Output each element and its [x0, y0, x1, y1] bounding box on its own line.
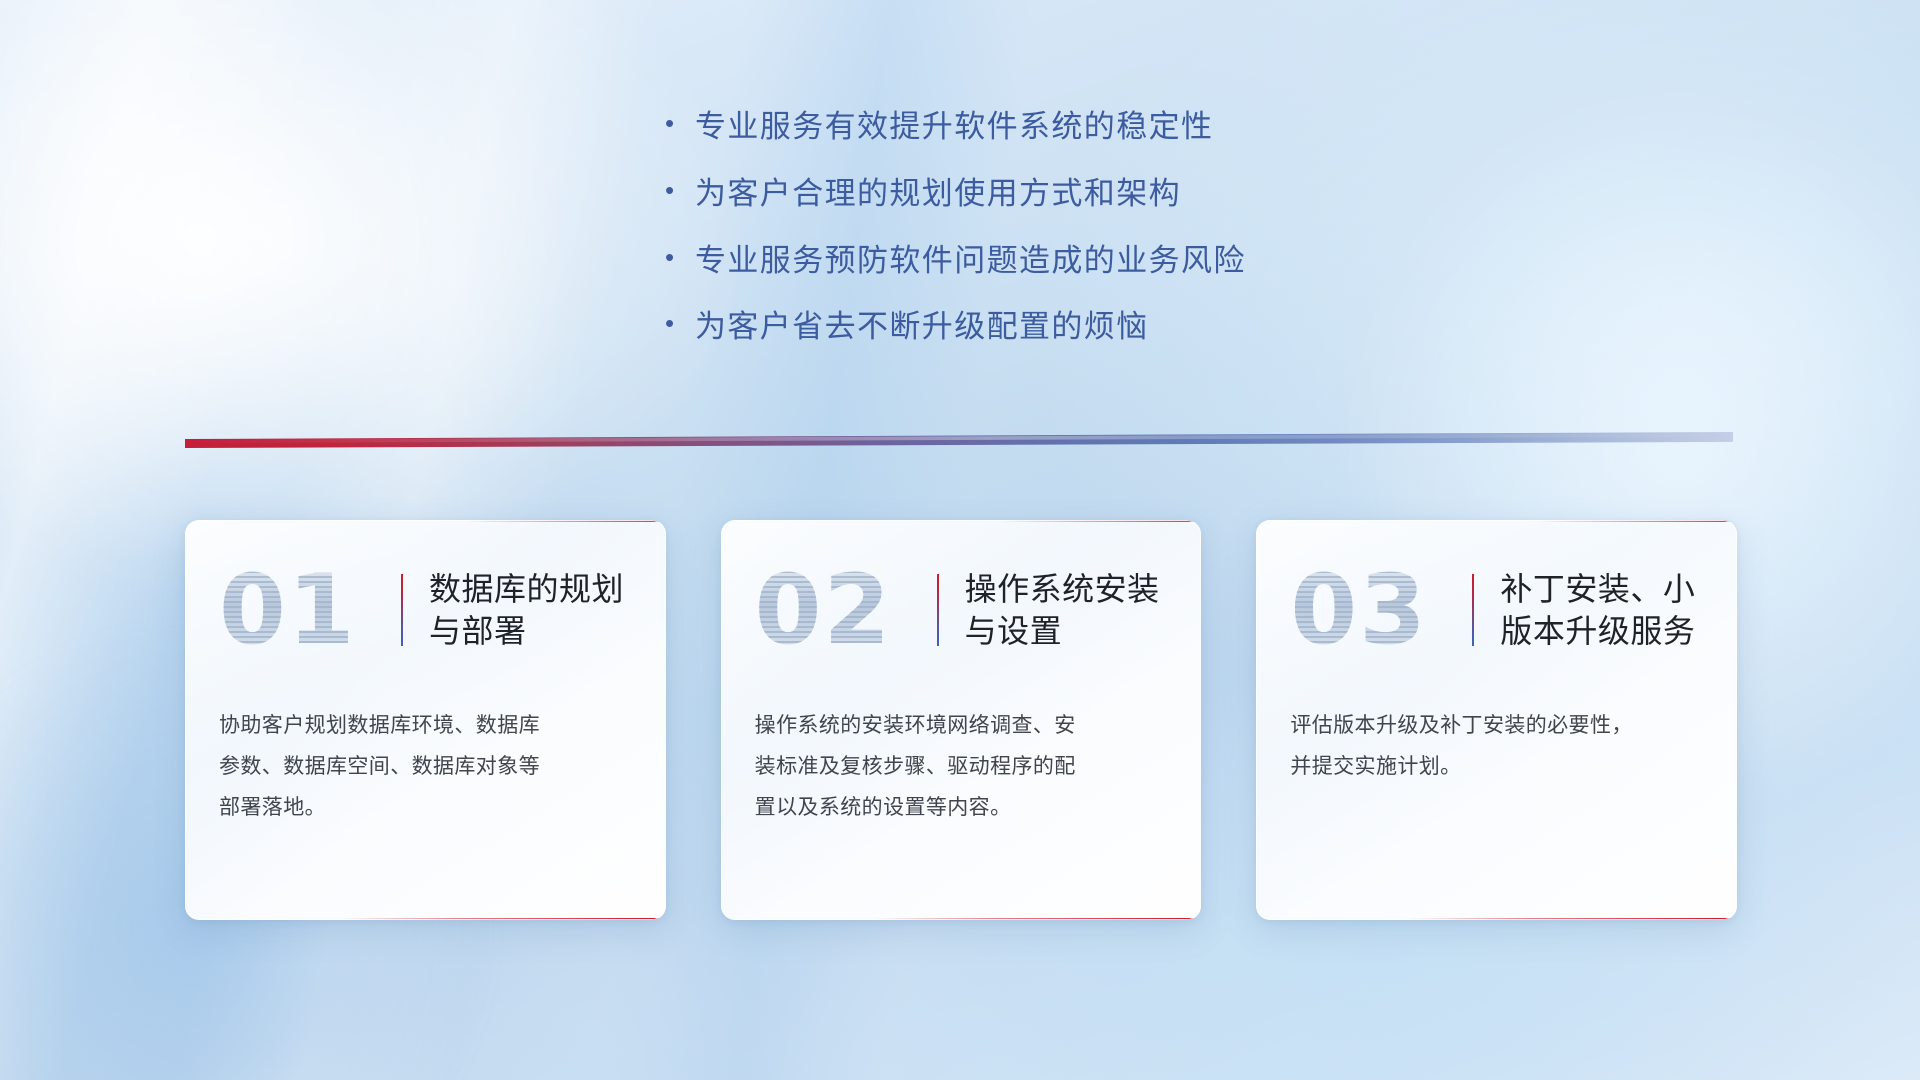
- card-divider-line: [937, 574, 939, 646]
- card-divider-line: [401, 574, 403, 646]
- list-item: 为客户省去不断升级配置的烦恼: [665, 308, 1425, 347]
- card-description: 评估版本升级及补丁安装的必要性， 并提交实施计划。: [1256, 706, 1737, 788]
- bullet-dot-icon: [665, 177, 695, 203]
- card-accent-bottom: [1410, 918, 1737, 921]
- section-divider: [185, 432, 1733, 448]
- service-card-row: 01 数据库的规划 与部署 协助客户规划数据库环境、数据库 参数、数据库空间、数…: [185, 520, 1737, 920]
- background-glow-left: [0, 0, 580, 600]
- bullet-text: 专业服务预防软件问题造成的业务风险: [695, 242, 1246, 281]
- bullet-text: 为客户省去不断升级配置的烦恼: [695, 308, 1149, 347]
- bullet-text: 专业服务有效提升软件系统的稳定性: [695, 108, 1213, 147]
- bullet-dot-icon: [665, 110, 695, 136]
- card-accent-bottom: [874, 918, 1201, 921]
- bullet-dot-icon: [665, 310, 695, 336]
- card-accent-bottom: [339, 918, 666, 921]
- bullet-text: 为客户合理的规划使用方式和架构: [695, 175, 1181, 214]
- service-card-03[interactable]: 03 补丁安装、小 版本升级服务 评估版本升级及补丁安装的必要性， 并提交实施计…: [1256, 520, 1737, 920]
- card-title: 数据库的规划 与部署: [429, 568, 624, 652]
- service-card-02[interactable]: 02 操作系统安装 与设置 操作系统的安装环境网络调查、安 装标准及复核步骤、驱…: [721, 520, 1202, 920]
- card-divider-line: [1472, 574, 1474, 646]
- card-description: 操作系统的安装环境网络调查、安 装标准及复核步骤、驱动程序的配 置以及系统的设置…: [721, 706, 1202, 829]
- benefits-bullet-list: 专业服务有效提升软件系统的稳定性 为客户合理的规划使用方式和架构 专业服务预防软…: [665, 108, 1425, 375]
- card-title: 补丁安装、小 版本升级服务: [1500, 568, 1695, 652]
- card-number: 02: [755, 562, 937, 658]
- card-description: 协助客户规划数据库环境、数据库 参数、数据库空间、数据库对象等 部署落地。: [185, 706, 666, 829]
- card-title: 操作系统安装 与设置: [965, 568, 1160, 652]
- card-header: 01 数据库的规划 与部署: [185, 520, 666, 700]
- list-item: 为客户合理的规划使用方式和架构: [665, 175, 1425, 214]
- card-header: 03 补丁安装、小 版本升级服务: [1256, 520, 1737, 700]
- list-item: 专业服务预防软件问题造成的业务风险: [665, 242, 1425, 281]
- card-header: 02 操作系统安装 与设置: [721, 520, 1202, 700]
- service-card-01[interactable]: 01 数据库的规划 与部署 协助客户规划数据库环境、数据库 参数、数据库空间、数…: [185, 520, 666, 920]
- card-number: 01: [219, 562, 401, 658]
- bullet-dot-icon: [665, 244, 695, 270]
- card-number: 03: [1290, 562, 1472, 658]
- list-item: 专业服务有效提升软件系统的稳定性: [665, 108, 1425, 147]
